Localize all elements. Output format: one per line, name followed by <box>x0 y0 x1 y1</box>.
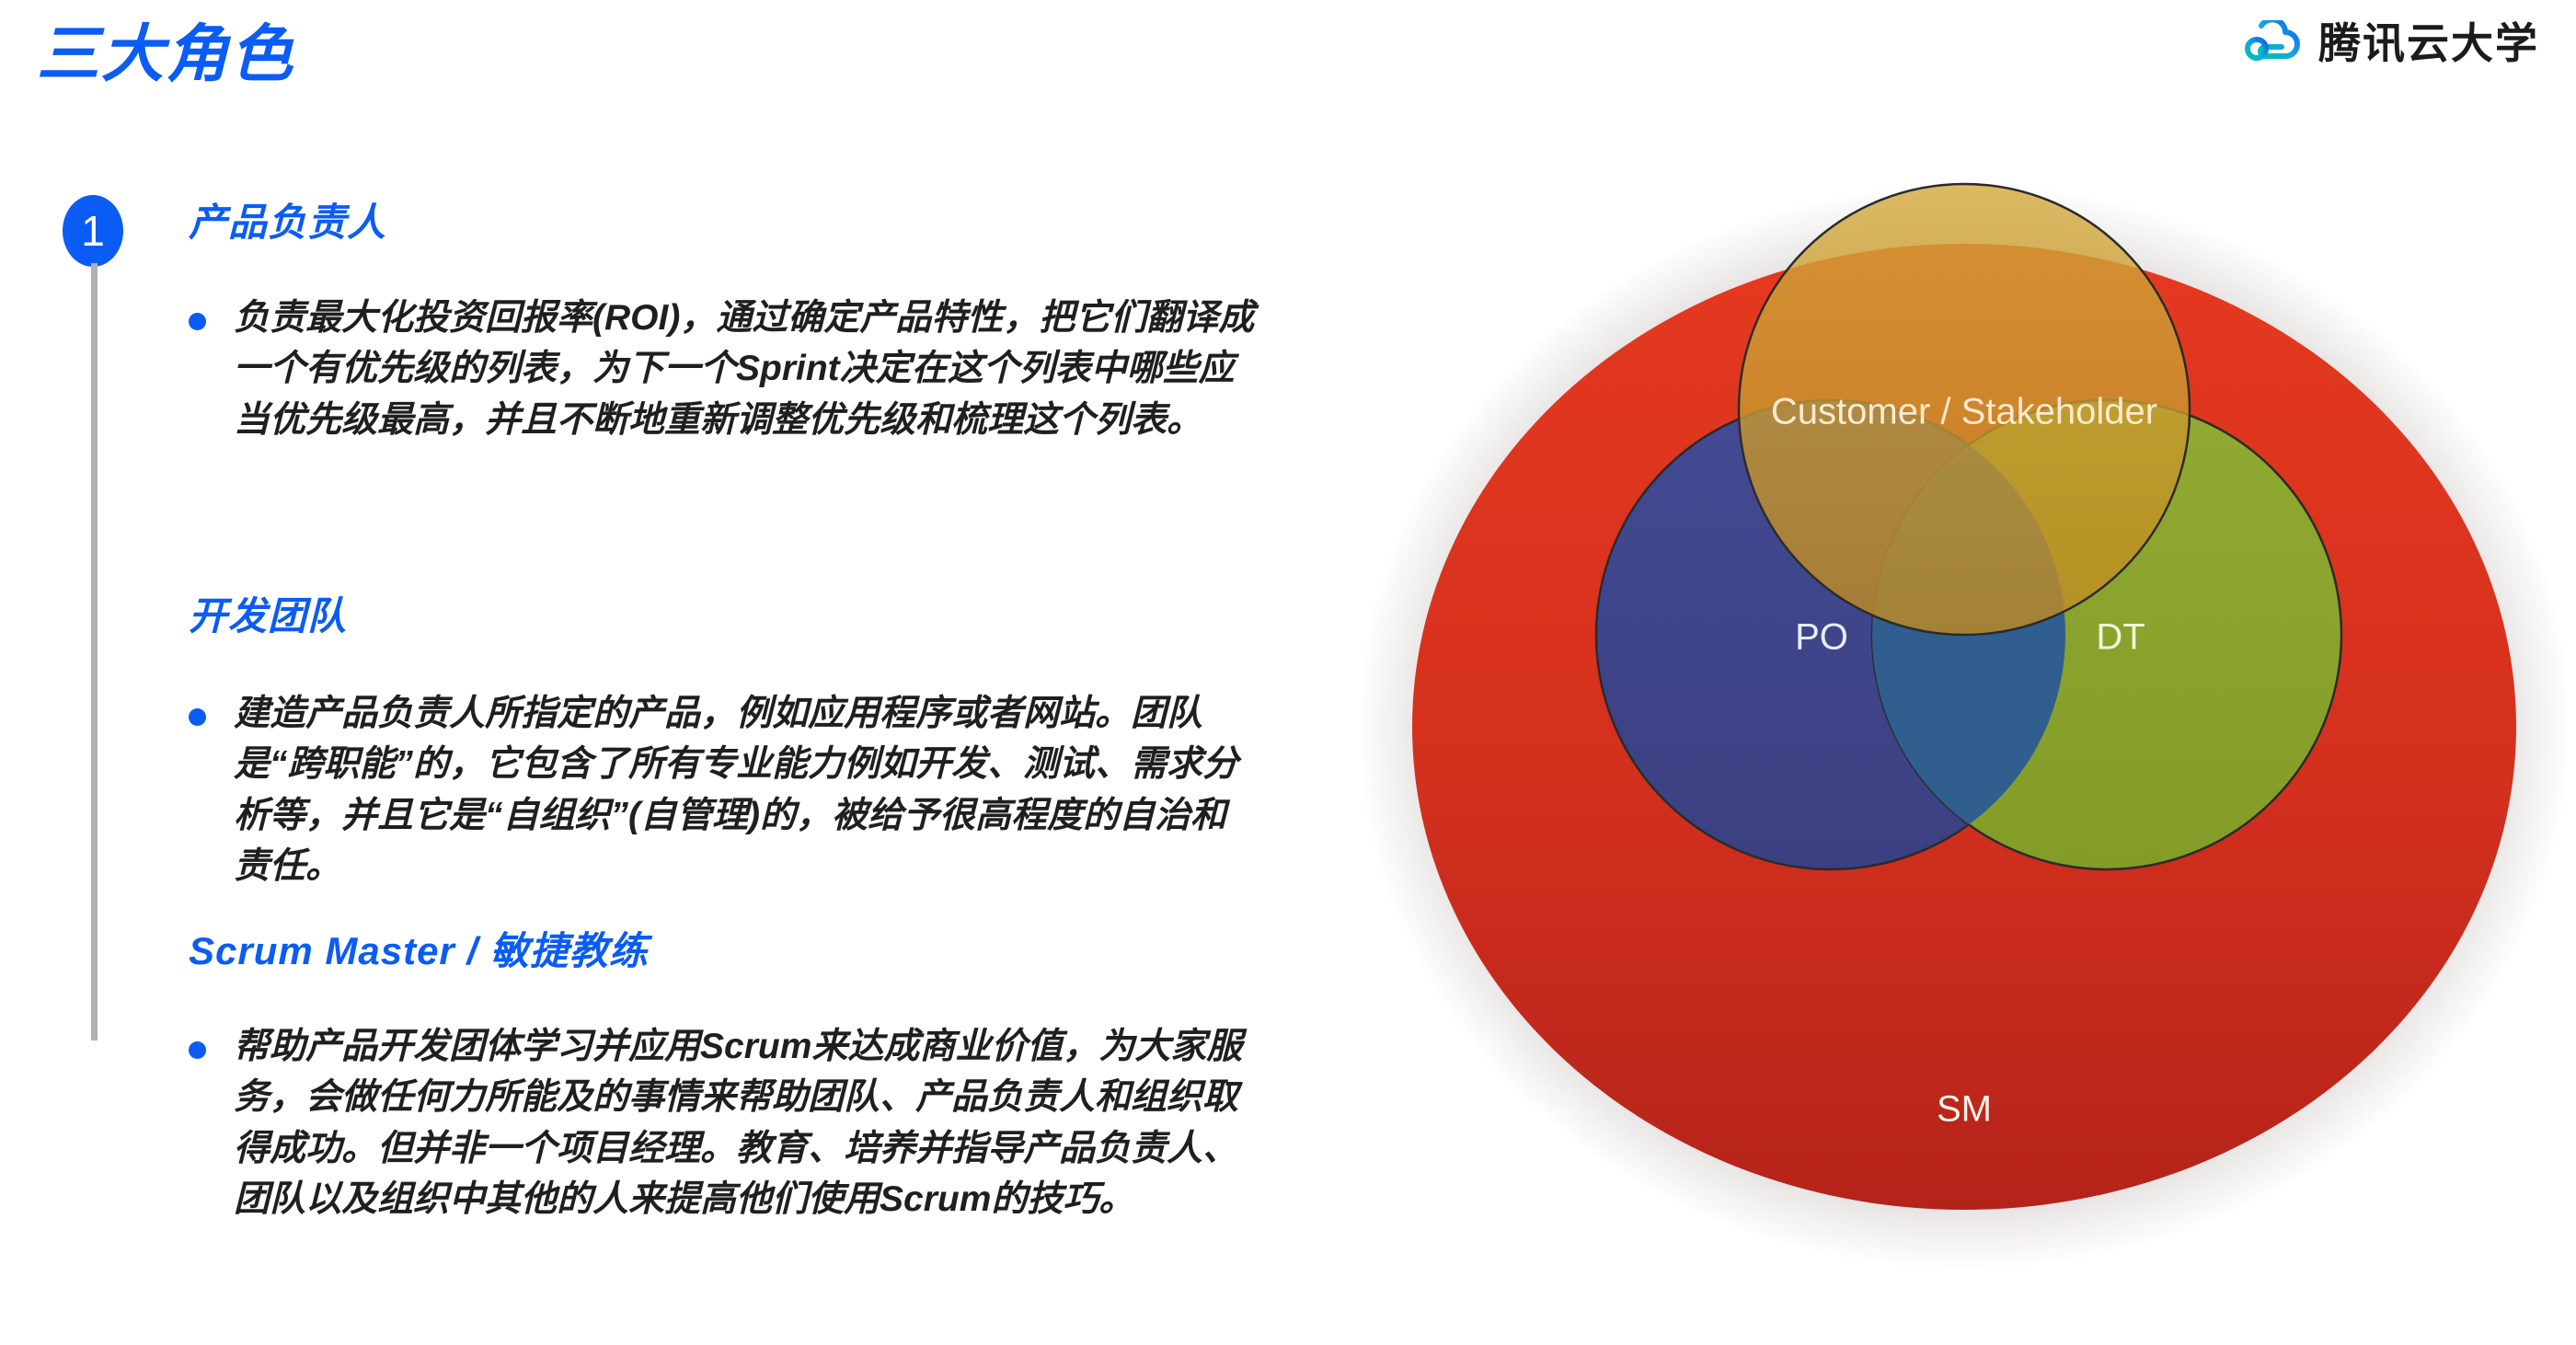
bullet-item: 帮助产品开发团体学习并应用Scrum来达成商业价值，为大家服务，会做任何力所能及… <box>189 1021 1256 1225</box>
bullet-dot-icon <box>189 708 206 726</box>
bullet-item: 建造产品负责人所指定的产品，例如应用程序或者网站。团队是“跨职能”的，它包含了所… <box>189 688 1256 892</box>
section-heading: Scrum Master / 敏捷教练 <box>189 929 1256 973</box>
content-column: 1 产品负责人 负责最大化投资回报率(ROI)，通过确定产品特性，把它们翻译成一… <box>0 0 1288 1345</box>
bullet-dot-icon <box>189 313 206 330</box>
slide-canvas: 三大角色 腾讯云大学 1 产品负责人 <box>0 0 2576 1345</box>
section-heading: 开发团队 <box>189 594 1256 638</box>
step-rail-line <box>91 263 98 1040</box>
diagram-column: Customer / Stakeholder PO DT SM <box>1288 0 2576 1345</box>
bullet-item: 负责最大化投资回报率(ROI)，通过确定产品特性，把它们翻译成一个有优先级的列表… <box>189 293 1256 445</box>
section-product-owner-heading: 产品负责人 <box>189 201 1256 245</box>
step-rail: 1 <box>63 195 173 1041</box>
venn-label-sm: SM <box>1937 1089 1992 1130</box>
section-scrum-master-heading: Scrum Master / 敏捷教练 <box>189 929 1256 973</box>
section-scrum-master-body: 帮助产品开发团体学习并应用Scrum来达成商业价值，为大家服务，会做任何力所能及… <box>189 1021 1256 1225</box>
bullet-text: 帮助产品开发团体学习并应用Scrum来达成商业价值，为大家服务，会做任何力所能及… <box>234 1021 1256 1225</box>
venn-label-dt: DT <box>2096 617 2145 658</box>
bullet-dot-icon <box>189 1041 206 1059</box>
venn-label-po: PO <box>1795 617 1848 658</box>
section-product-owner-body: 负责最大化投资回报率(ROI)，通过确定产品特性，把它们翻译成一个有优先级的列表… <box>189 293 1256 445</box>
venn-label-customer-stakeholder: Customer / Stakeholder <box>1771 392 2157 432</box>
bullet-text: 负责最大化投资回报率(ROI)，通过确定产品特性，把它们翻译成一个有优先级的列表… <box>234 293 1256 445</box>
step-number-label: 1 <box>81 210 105 252</box>
section-development-team-heading: 开发团队 <box>189 594 1256 638</box>
bullet-text: 建造产品负责人所指定的产品，例如应用程序或者网站。团队是“跨职能”的，它包含了所… <box>234 688 1256 892</box>
section-heading: 产品负责人 <box>189 201 1256 245</box>
section-development-team-body: 建造产品负责人所指定的产品，例如应用程序或者网站。团队是“跨职能”的，它包含了所… <box>189 688 1256 892</box>
scrum-roles-venn-diagram: Customer / Stakeholder PO DT SM <box>1343 83 2576 1297</box>
step-number-badge: 1 <box>63 195 123 267</box>
